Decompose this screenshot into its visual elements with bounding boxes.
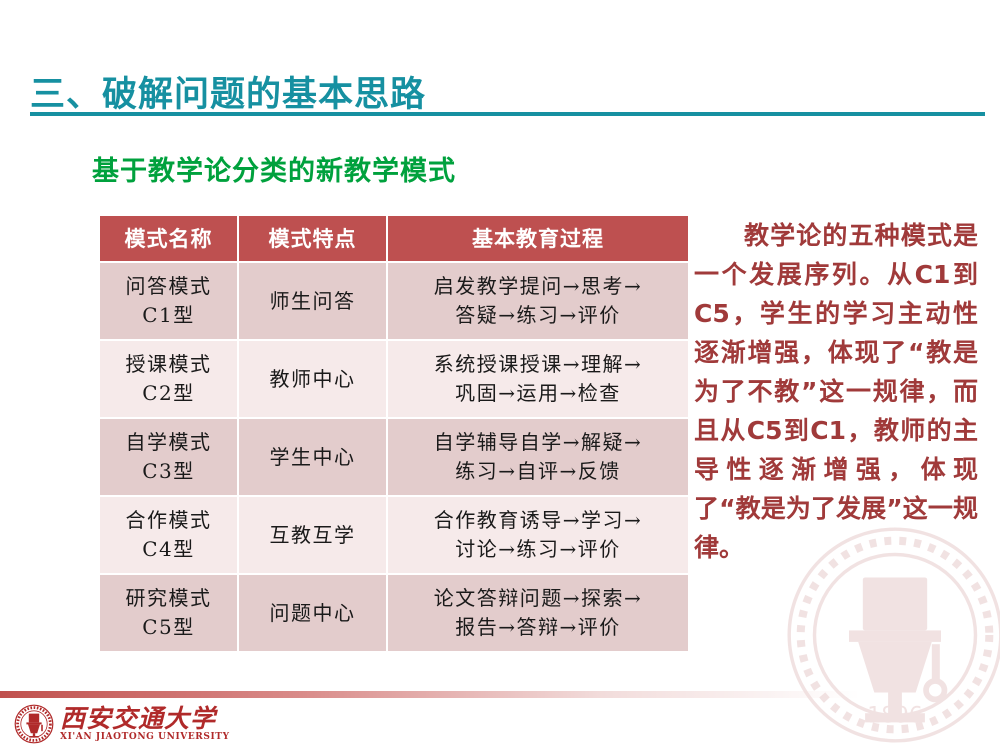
cell-mode-name: 授课模式 C2型	[100, 341, 237, 417]
column-header-mode-feature: 模式特点	[239, 216, 386, 261]
cell-mode-name: 研究模式 C5型	[100, 575, 237, 651]
process-line2: 答疑→练习→评价	[392, 301, 684, 330]
cell-mode-feature: 师生问答	[239, 263, 386, 339]
teaching-modes-table-wrapper: 模式名称 模式特点 基本教育过程 问答模式 C1型 师生问答 启发教学提问→思考…	[98, 214, 684, 653]
mode-name-line2: C2型	[104, 379, 233, 408]
process-line1: 系统授课授课→理解→	[392, 350, 684, 379]
cell-education-process: 合作教育诱导→学习→ 讨论→练习→评价	[388, 497, 688, 573]
university-logo: 西安交通大学 XI'AN JIAOTONG UNIVERSITY	[14, 703, 230, 745]
page-title: 三、破解问题的基本思路	[30, 74, 426, 116]
cell-education-process: 论文答辩问题→探索→ 报告→答辩→评价	[388, 575, 688, 651]
cell-mode-feature: 问题中心	[239, 575, 386, 651]
process-line2: 讨论→练习→评价	[392, 535, 684, 564]
mode-name-line1: 授课模式	[104, 350, 233, 379]
cell-mode-feature: 互教互学	[239, 497, 386, 573]
process-line1: 论文答辩问题→探索→	[392, 584, 684, 613]
cell-mode-name: 问答模式 C1型	[100, 263, 237, 339]
table-row: 自学模式 C3型 学生中心 自学辅导自学→解疑→ 练习→自评→反馈	[100, 419, 688, 495]
process-line2: 报告→答辩→评价	[392, 613, 684, 642]
cell-mode-name: 合作模式 C4型	[100, 497, 237, 573]
title-underline	[30, 112, 985, 116]
mode-name-line2: C1型	[104, 301, 233, 330]
process-line2: 巩固→运用→检查	[392, 379, 684, 408]
mode-name-line1: 自学模式	[104, 428, 233, 457]
table-row: 授课模式 C2型 教师中心 系统授课授课→理解→ 巩固→运用→检查	[100, 341, 688, 417]
logo-chinese-name: 西安交通大学	[60, 705, 230, 732]
table-row: 合作模式 C4型 互教互学 合作教育诱导→学习→ 讨论→练习→评价	[100, 497, 688, 573]
slide-canvas: 1896 三、破解问题的基本思路 基于教学论分类的新教学模式 模式名称 模式特点…	[0, 0, 1000, 750]
mode-name-line2: C5型	[104, 613, 233, 642]
footer-divider	[0, 691, 860, 698]
table-row: 问答模式 C1型 师生问答 启发教学提问→思考→ 答疑→练习→评价	[100, 263, 688, 339]
mode-name-line1: 问答模式	[104, 272, 233, 301]
process-line1: 启发教学提问→思考→	[392, 272, 684, 301]
mode-name-line2: C4型	[104, 535, 233, 564]
slide-title-row: 三、破解问题的基本思路	[0, 74, 1000, 120]
logo-wordmark: 西安交通大学 XI'AN JIAOTONG UNIVERSITY	[60, 705, 230, 743]
university-gear-emblem-icon	[14, 704, 54, 744]
logo-english-name: XI'AN JIAOTONG UNIVERSITY	[60, 732, 230, 743]
cell-mode-feature: 学生中心	[239, 419, 386, 495]
cell-education-process: 启发教学提问→思考→ 答疑→练习→评价	[388, 263, 688, 339]
process-line2: 练习→自评→反馈	[392, 457, 684, 486]
column-header-mode-name: 模式名称	[100, 216, 237, 261]
teaching-modes-table: 模式名称 模式特点 基本教育过程 问答模式 C1型 师生问答 启发教学提问→思考…	[98, 214, 690, 653]
cell-mode-feature: 教师中心	[239, 341, 386, 417]
table-header-row: 模式名称 模式特点 基本教育过程	[100, 216, 688, 261]
column-header-education-process: 基本教育过程	[388, 216, 688, 261]
table-row: 研究模式 C5型 问题中心 论文答辩问题→探索→ 报告→答辩→评价	[100, 575, 688, 651]
cell-education-process: 自学辅导自学→解疑→ 练习→自评→反馈	[388, 419, 688, 495]
mode-name-line1: 合作模式	[104, 506, 233, 535]
cell-education-process: 系统授课授课→理解→ 巩固→运用→检查	[388, 341, 688, 417]
side-commentary-text: 教学论的五种模式是一个发展序列。从C1到C5，学生的学习主动性逐渐增强，体现了“…	[694, 216, 978, 567]
watermark-year: 1896	[867, 703, 923, 728]
slide-subtitle: 基于教学论分类的新教学模式	[92, 155, 456, 189]
process-line1: 自学辅导自学→解疑→	[392, 428, 684, 457]
mode-name-line2: C3型	[104, 457, 233, 486]
cell-mode-name: 自学模式 C3型	[100, 419, 237, 495]
process-line1: 合作教育诱导→学习→	[392, 506, 684, 535]
mode-name-line1: 研究模式	[104, 584, 233, 613]
